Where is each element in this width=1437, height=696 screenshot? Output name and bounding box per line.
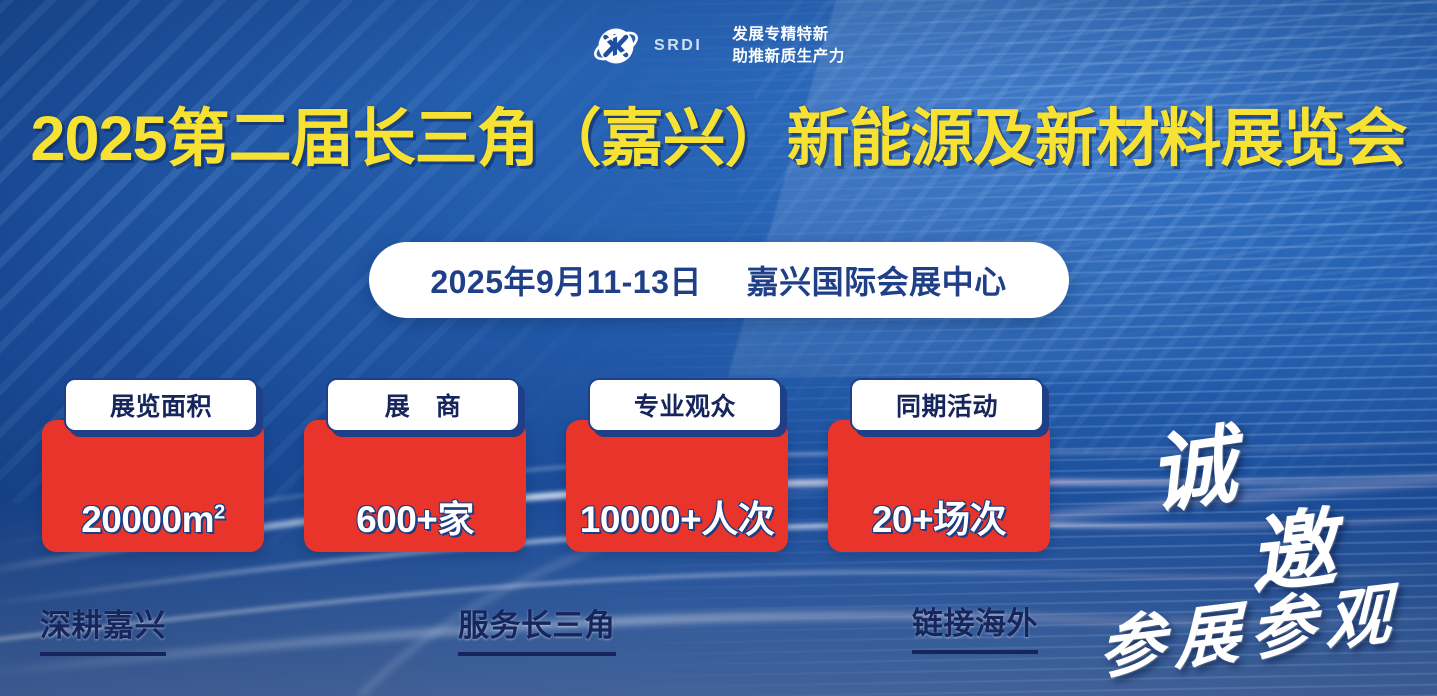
stat-value-sup: 2 (214, 502, 225, 524)
stat-label: 专业观众 (634, 387, 736, 423)
stat-card-exhibitors: 600+家 展 商 (304, 378, 526, 552)
stat-value: 20000m2 (81, 501, 225, 538)
stat-label: 同期活动 (896, 387, 998, 423)
slogan-link-overseas: 链接海外 (912, 598, 1038, 654)
stat-card-exhibition-area: 20000m2 展览面积 (42, 378, 264, 552)
stat-label-badge: 展 商 (326, 378, 520, 432)
event-date: 2025年9月11-13日 (430, 264, 702, 300)
stat-value-text: 20+场次 (872, 499, 1006, 540)
header-slogan-text: 发展专精特新 助推新质生产力 (732, 24, 845, 69)
stat-card-body: 20000m2 (42, 420, 264, 552)
stat-card-body: 20+场次 (828, 420, 1050, 552)
stat-label: 展 商 (385, 387, 462, 423)
srdi-brand-text: SRDI (654, 37, 702, 55)
slogan-serve-yangtze: 服务长三角 (458, 600, 616, 656)
stat-card-body: 600+家 (304, 420, 526, 552)
stat-card-professional-visitors: 10000+人次 专业观众 (566, 378, 788, 552)
stat-value: 10000+人次 (580, 501, 775, 538)
stat-value-text: 10000+人次 (580, 499, 775, 540)
date-venue-text: 2025年9月11-13日 嘉兴国际会展中心 (430, 257, 1006, 303)
banner-header: SRDI 发展专精特新 助推新质生产力 (0, 22, 1437, 70)
stat-card-concurrent-events: 20+场次 同期活动 (828, 378, 1050, 552)
stat-value-text: 20000m (81, 499, 214, 540)
date-venue-pill: 2025年9月11-13日 嘉兴国际会展中心 (369, 242, 1069, 318)
stat-value: 20+场次 (872, 501, 1006, 538)
slogan-deep-jiaxing: 深耕嘉兴 (40, 600, 166, 656)
stat-card-body: 10000+人次 (566, 420, 788, 552)
event-venue: 嘉兴国际会展中心 (747, 264, 1007, 300)
stat-label: 展览面积 (110, 387, 212, 423)
stat-value-text: 600+家 (356, 499, 474, 540)
exhibition-banner: SRDI 发展专精特新 助推新质生产力 2025第二届长三角（嘉兴）新能源及新材… (0, 0, 1437, 696)
page-title: 2025第二届长三角（嘉兴）新能源及新材料展览会 (0, 108, 1437, 171)
stat-value: 600+家 (356, 501, 474, 538)
stat-label-badge: 同期活动 (850, 378, 1044, 432)
stat-label-badge: 专业观众 (588, 378, 782, 432)
srdi-globe-icon (592, 22, 640, 70)
stat-label-badge: 展览面积 (64, 378, 258, 432)
stats-row: 20000m2 展览面积 600+家 展 商 10000+人次 (42, 378, 1050, 552)
